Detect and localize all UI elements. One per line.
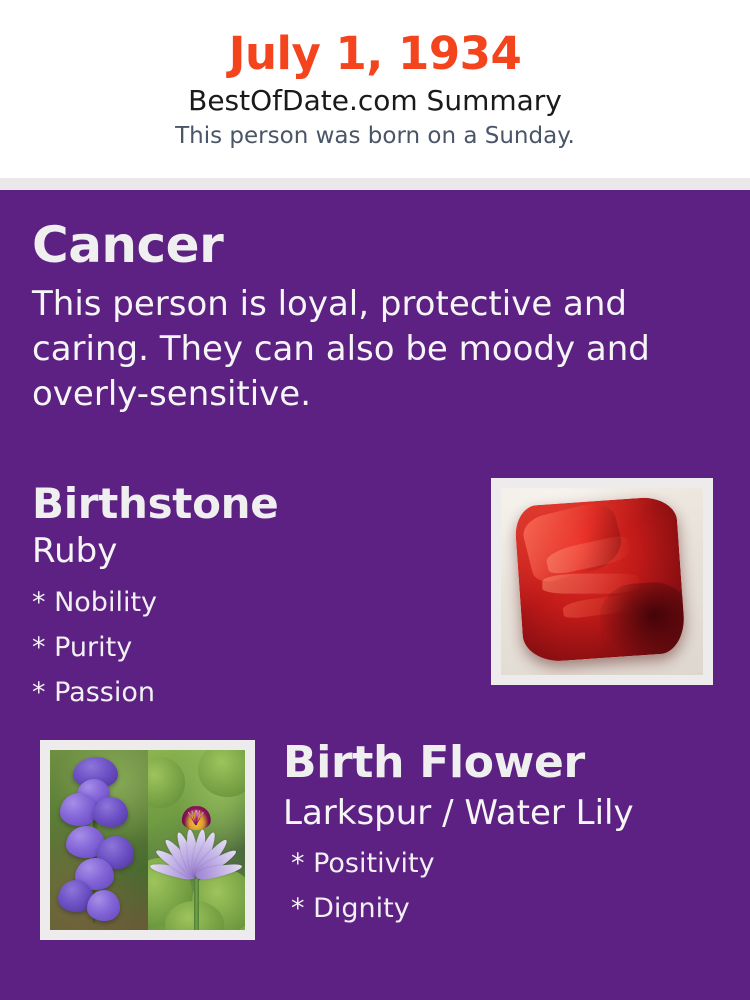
page-header: July 1, 1934 BestOfDate.com Summary This… — [0, 0, 750, 178]
zodiac-sign-name: Cancer — [32, 216, 718, 274]
site-summary-label: BestOfDate.com Summary — [0, 82, 750, 120]
birthstone-heading: Birthstone — [32, 478, 472, 530]
list-item: * Positivity — [291, 841, 723, 886]
birth-flower-photo — [50, 750, 245, 930]
ruby-photo-background — [501, 488, 703, 675]
summary-panel: Cancer This person is loyal, protective … — [0, 190, 750, 1000]
list-item: * Dignity — [291, 886, 723, 931]
lily-bloom — [154, 775, 238, 869]
header-divider — [0, 178, 750, 190]
birthstone-value: Ruby — [32, 530, 472, 572]
birthstone-section: Birthstone Ruby * Nobility * Purity * Pa… — [32, 478, 472, 715]
ruby-gem-shape — [514, 496, 686, 664]
page-title: July 1, 1934 — [0, 26, 750, 82]
ruby-facet — [545, 534, 632, 576]
larkspur-petal — [87, 890, 120, 921]
birth-flower-section: Birth Flower Larkspur / Water Lily * Pos… — [283, 735, 723, 931]
birthstone-image-frame — [491, 478, 713, 685]
list-item: * Purity — [32, 625, 472, 670]
birth-flower-image-frame — [40, 740, 255, 940]
ruby-facet — [542, 574, 639, 594]
lily-center — [182, 806, 211, 830]
zodiac-section: Cancer This person is loyal, protective … — [0, 190, 750, 417]
ruby-photo — [501, 488, 703, 675]
list-item: * Passion — [32, 670, 472, 715]
birthstone-trait-list: * Nobility * Purity * Passion — [32, 580, 472, 715]
larkspur-petal — [93, 797, 128, 828]
larkspur-petal — [60, 793, 97, 825]
birth-flower-trait-list: * Positivity * Dignity — [283, 841, 723, 931]
larkspur-photo-half — [50, 750, 148, 930]
ruby-facet — [562, 594, 635, 620]
birth-flower-value: Larkspur / Water Lily — [283, 791, 723, 835]
flower-photo-split — [50, 750, 245, 930]
born-day-note: This person was born on a Sunday. — [0, 120, 750, 152]
water-lily-photo-half — [148, 750, 246, 930]
birth-flower-heading: Birth Flower — [283, 735, 723, 791]
zodiac-description: This person is loyal, protective and car… — [32, 282, 652, 417]
list-item: * Nobility — [32, 580, 472, 625]
